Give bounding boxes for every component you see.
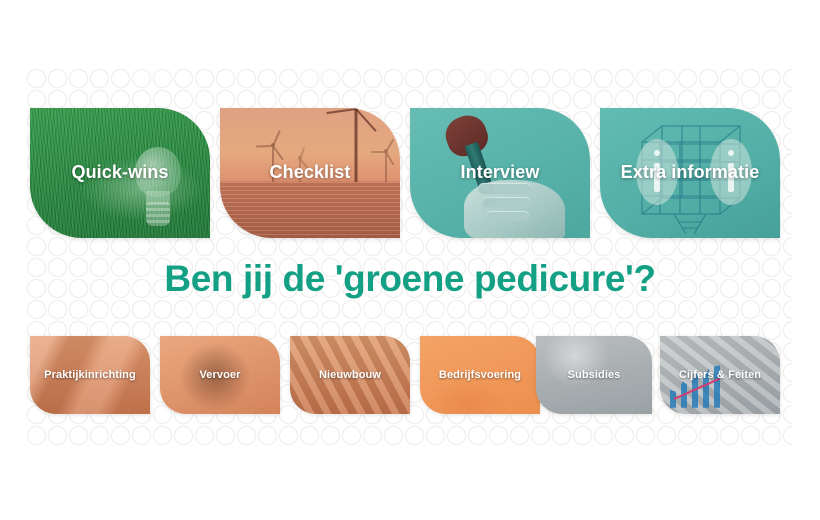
hero-card-label: Extra informatie	[600, 163, 780, 183]
topic-card-nieuwbouw[interactable]: Nieuwbouw	[290, 336, 410, 414]
topic-card-label: Cijfers & Feiten	[660, 369, 780, 381]
lightbulb-icon	[131, 147, 196, 228]
topic-card-label: Bedrijfsvoering	[420, 369, 540, 381]
topic-card-label: Subsidies	[536, 369, 652, 381]
hero-card-label: Interview	[410, 163, 590, 183]
topic-card-label: Vervoer	[160, 369, 280, 381]
topic-card-label: Nieuwbouw	[290, 369, 410, 381]
topic-card-praktijkinrichting[interactable]: Praktijkinrichting	[30, 336, 150, 414]
hero-card-extra-informatie[interactable]: Extra informatie	[600, 108, 780, 238]
page-title: Ben jij de 'groene pedicure'?	[0, 258, 820, 300]
hero-card-label: Checklist	[220, 163, 400, 183]
hero-card-checklist[interactable]: Checklist	[220, 108, 400, 238]
topic-card-subsidies[interactable]: Subsidies	[536, 336, 652, 414]
hero-card-label: Quick-wins	[30, 163, 210, 183]
topic-card-vervoer[interactable]: Vervoer	[160, 336, 280, 414]
hero-card-quick-wins[interactable]: Quick-wins	[30, 108, 210, 238]
topic-card-label: Praktijkinrichting	[30, 369, 150, 381]
topic-card-cijfers-en-feiten[interactable]: Cijfers & Feiten	[660, 336, 780, 414]
page-root: Quick-wins	[0, 0, 820, 520]
hero-card-interview[interactable]: Interview	[410, 108, 590, 238]
hand-holding-microphone	[464, 180, 565, 239]
sea-surface	[220, 182, 400, 238]
topic-card-bedrijfsvoering[interactable]: Bedrijfsvoering	[420, 336, 540, 414]
